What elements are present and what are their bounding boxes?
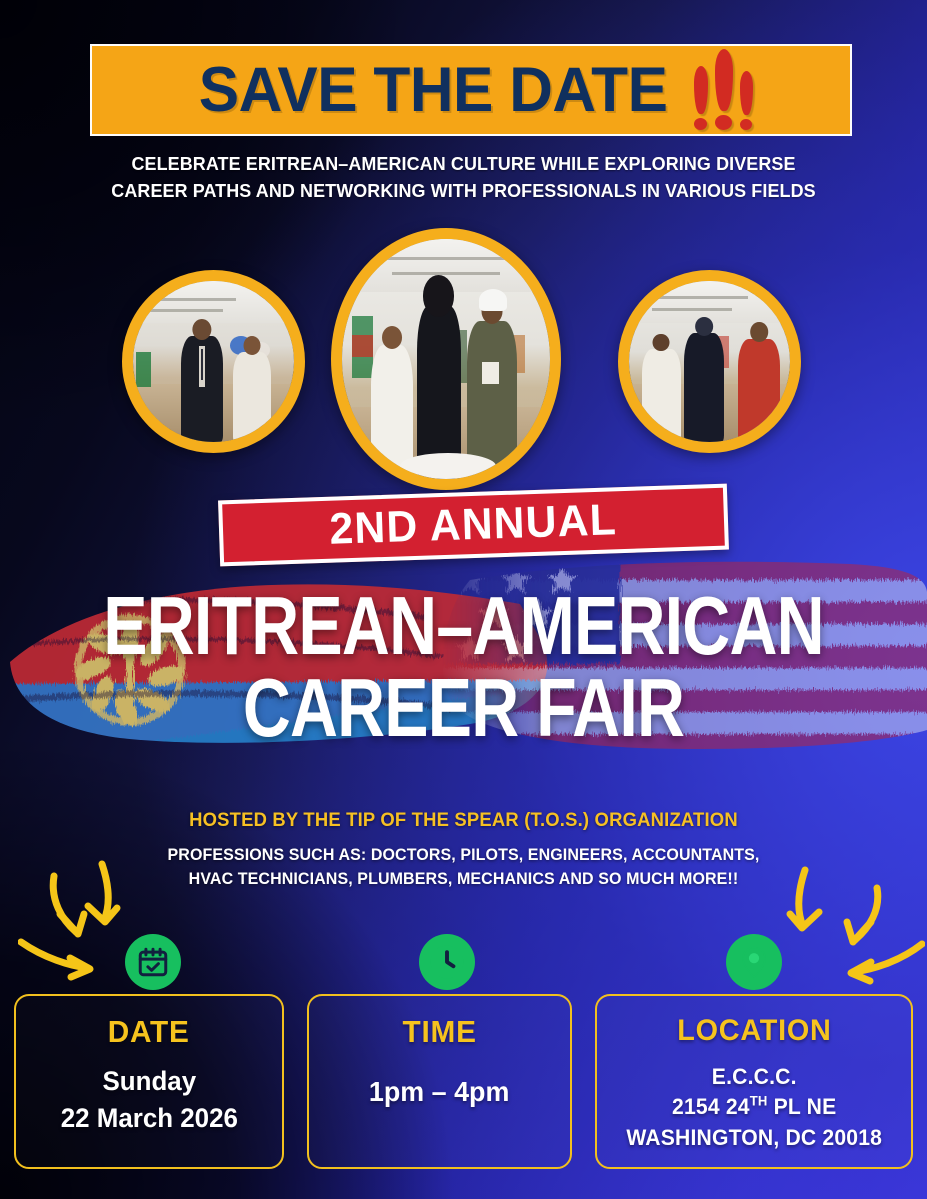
date-card: DATE Sunday 22 March 2026 (14, 994, 284, 1169)
exclamation-mark-icon (740, 71, 753, 130)
flyer-poster: SAVE THE DATE CELEBRATE ERITREAN–AMERICA… (0, 0, 927, 1199)
professions-line-1: PROFESSIONS SUCH AS: DOCTORS, PILOTS, EN… (14, 843, 913, 867)
subtitle-line-2: CAREER PATHS AND NETWORKING WITH PROFESS… (14, 177, 913, 204)
professions-list: PROFESSIONS SUCH AS: DOCTORS, PILOTS, EN… (14, 843, 913, 892)
street-rest: PL NE (767, 1094, 836, 1119)
event-title-line-1: ERITREAN–AMERICAN (93, 588, 835, 664)
photo-left (122, 270, 305, 453)
time-card-heading: TIME (402, 1016, 476, 1047)
location-card-heading: LOCATION (677, 1016, 831, 1046)
exclamation-marks-icon (694, 49, 753, 132)
annual-label: 2ND ANNUAL (329, 498, 618, 552)
event-title: ERITREAN–AMERICAN CAREER FAIR (0, 588, 927, 747)
clock-icon (419, 934, 475, 990)
event-subtitle: CELEBRATE ERITREAN–AMERICAN CULTURE WHIL… (14, 150, 913, 204)
time-card-body: 1pm – 4pm (369, 1073, 509, 1112)
exclamation-mark-icon (715, 49, 733, 130)
professions-line-2: HVAC TECHNICIANS, PLUMBERS, MECHANICS AN… (14, 867, 913, 891)
street-number: 2154 24 (672, 1094, 750, 1119)
photo-center (331, 228, 561, 490)
date-line-2: 22 March 2026 (60, 1100, 237, 1137)
location-card: LOCATION E.C.C.C. 2154 24TH PL NE WASHIN… (595, 994, 913, 1169)
date-card-body: Sunday 22 March 2026 (60, 1063, 237, 1138)
street-ordinal: TH (750, 1094, 768, 1109)
location-line-1: E.C.C.C. (626, 1062, 882, 1092)
date-line-1: Sunday (60, 1063, 237, 1100)
location-card-body: E.C.C.C. 2154 24TH PL NE WASHINGTON, DC … (626, 1062, 882, 1153)
page-title: SAVE THE DATE (199, 59, 668, 122)
location-line-3: WASHINGTON, DC 20018 (626, 1123, 882, 1153)
save-the-date-banner: SAVE THE DATE (90, 44, 852, 136)
photo-gallery (0, 228, 927, 490)
event-title-line-2: CAREER FAIR (93, 670, 835, 746)
location-line-2: 2154 24TH PL NE (626, 1092, 882, 1122)
time-line-1: 1pm – 4pm (369, 1073, 509, 1112)
calendar-check-icon (125, 934, 181, 990)
hosted-by-line: HOSTED BY THE TIP OF THE SPEAR (T.O.S.) … (14, 810, 913, 832)
subtitle-line-1: CELEBRATE ERITREAN–AMERICAN CULTURE WHIL… (14, 150, 913, 177)
date-card-heading: DATE (108, 1016, 190, 1047)
photo-right (618, 270, 801, 453)
time-card: TIME 1pm – 4pm (307, 994, 572, 1169)
exclamation-mark-icon (694, 66, 708, 130)
map-pin-icon (726, 934, 782, 990)
